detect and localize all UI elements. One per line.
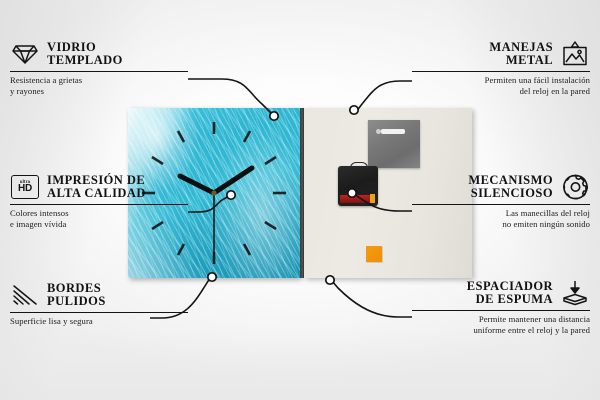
desc-line-1: Colores intensos: [10, 208, 69, 218]
feature-title: BORDES PULIDOS: [47, 282, 106, 309]
ultra-hd-icon: ultra HD: [10, 173, 40, 201]
desc-line-2: e imagen vívida: [10, 219, 66, 229]
title-line-1: VIDRIO: [47, 40, 96, 54]
title-line-2: ALTA CALIDAD: [47, 186, 146, 200]
battery-terminal: [370, 194, 375, 203]
polished-edge-icon: [10, 281, 40, 309]
feature-metal-hangers: MANEJAS METAL Permiten una fácil instala…: [412, 40, 590, 96]
title-line-2: METAL: [506, 53, 553, 67]
title-line-2: PULIDOS: [47, 294, 106, 308]
title-line-1: IMPRESIÓN DE: [47, 173, 145, 187]
title-line-1: MECANISMO: [468, 173, 553, 187]
desc-line-2: uniforme entre el reloj y la pared: [474, 325, 591, 335]
mechanism-shaft: [350, 162, 368, 169]
metal-hanger-plate: [368, 120, 420, 168]
hd-badge: ultra HD: [11, 175, 39, 199]
feature-divider: [10, 204, 188, 205]
feature-silent-mechanism: MECANISMO SILENCIOSO Las manecillas del …: [412, 173, 590, 229]
hd-main-label: HD: [18, 184, 32, 194]
feature-header: ESPACIADOR DE ESPUMA: [412, 279, 590, 307]
desc-line-1: Superficie lisa y segura: [10, 316, 93, 326]
feature-title: ESPACIADOR DE ESPUMA: [467, 280, 553, 307]
desc-line-1: Permiten una fácil instalación: [485, 75, 590, 85]
feature-description: Permite mantener una distancia uniforme …: [412, 314, 590, 335]
feature-description: Resistencia a grietas y rayones: [10, 75, 188, 96]
connector-foam-spacer: [332, 281, 412, 317]
foam-spacer-pad: [366, 246, 382, 262]
title-line-1: MANEJAS: [489, 40, 553, 54]
diamond-icon: [10, 40, 40, 68]
title-line-1: ESPACIADOR: [467, 279, 553, 293]
arrow-down-onto-layer-icon: [560, 279, 590, 307]
feature-header: BORDES PULIDOS: [10, 281, 188, 309]
battery: [340, 195, 370, 203]
feature-description: Las manecillas del reloj no emiten ningú…: [412, 208, 590, 229]
feature-header: MECANISMO SILENCIOSO: [412, 173, 590, 201]
feature-divider: [412, 310, 590, 311]
feature-hd-print: ultra HD IMPRESIÓN DE ALTA CALIDAD Color…: [10, 173, 188, 229]
framed-picture-hanging-icon: [560, 40, 590, 68]
feature-divider: [10, 312, 188, 313]
infographic-canvas: VIDRIO TEMPLADO Resistencia a grietas y …: [0, 0, 600, 400]
desc-line-2: no emiten ningún sonido: [502, 219, 590, 229]
desc-line-1: Resistencia a grietas: [10, 75, 82, 85]
feature-foam-spacer: ESPACIADOR DE ESPUMA Permite mantener un…: [412, 279, 590, 335]
title-line-1: BORDES: [47, 281, 101, 295]
feature-divider: [412, 204, 590, 205]
feature-title: IMPRESIÓN DE ALTA CALIDAD: [47, 174, 146, 201]
title-line-2: SILENCIOSO: [471, 186, 553, 200]
feature-header: MANEJAS METAL: [412, 40, 590, 68]
title-line-2: TEMPLADO: [47, 53, 123, 67]
desc-line-1: Permite mantener una distancia: [479, 314, 590, 324]
feature-title: MECANISMO SILENCIOSO: [468, 174, 553, 201]
desc-line-1: Las manecillas del reloj: [506, 208, 590, 218]
desc-line-2: y rayones: [10, 86, 44, 96]
feature-description: Permiten una fácil instalación del reloj…: [412, 75, 590, 96]
feature-title: VIDRIO TEMPLADO: [47, 41, 123, 68]
gear-icon: [560, 173, 590, 201]
title-line-2: DE ESPUMA: [476, 292, 553, 306]
silent-mechanism-box: [338, 166, 378, 206]
glass-edge-strip: [300, 108, 304, 278]
feature-tempered-glass: VIDRIO TEMPLADO Resistencia a grietas y …: [10, 40, 188, 96]
feature-polished-edges: BORDES PULIDOS Superficie lisa y segura: [10, 281, 188, 327]
feature-title: MANEJAS METAL: [489, 41, 553, 68]
feature-header: ultra HD IMPRESIÓN DE ALTA CALIDAD: [10, 173, 188, 201]
feature-header: VIDRIO TEMPLADO: [10, 40, 188, 68]
desc-line-2: del reloj en la pared: [520, 86, 590, 96]
feature-divider: [10, 71, 188, 72]
feature-divider: [412, 71, 590, 72]
feature-description: Colores intensos e imagen vívida: [10, 208, 188, 229]
hanger-keyhole-slot: [381, 129, 405, 134]
feature-description: Superficie lisa y segura: [10, 316, 188, 327]
